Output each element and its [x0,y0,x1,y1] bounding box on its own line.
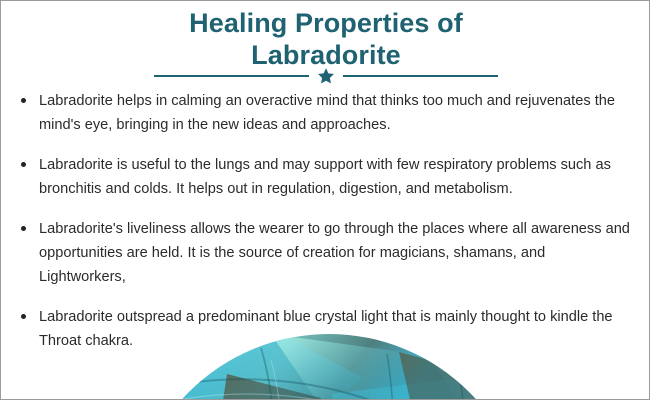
list-item-text: Labradorite is useful to the lungs and m… [39,153,633,201]
list-item-text: Labradorite helps in calming an overacti… [39,89,633,137]
list-item: Labradorite helps in calming an overacti… [1,89,650,137]
list-item: Labradorite is useful to the lungs and m… [1,153,650,201]
page-title: Healing Properties of Labradorite [1,7,650,71]
title-line-1: Healing Properties of [1,7,650,39]
bullet-dot-icon [21,162,26,167]
healing-properties-list: Labradorite helps in calming an overacti… [1,89,650,353]
bullet-dot-icon [21,98,26,103]
divider-rule-left [154,75,309,77]
divider-rule-right [343,75,498,77]
slide-canvas: Healing Properties of Labradorite Labrad… [0,0,650,400]
bullet-dot-icon [21,226,26,231]
list-item-text: Labradorite's liveliness allows the wear… [39,217,633,289]
title-divider [1,65,650,87]
bullet-dot-icon [21,314,26,319]
list-item: Labradorite's liveliness allows the wear… [1,217,650,289]
star-icon [309,65,343,87]
